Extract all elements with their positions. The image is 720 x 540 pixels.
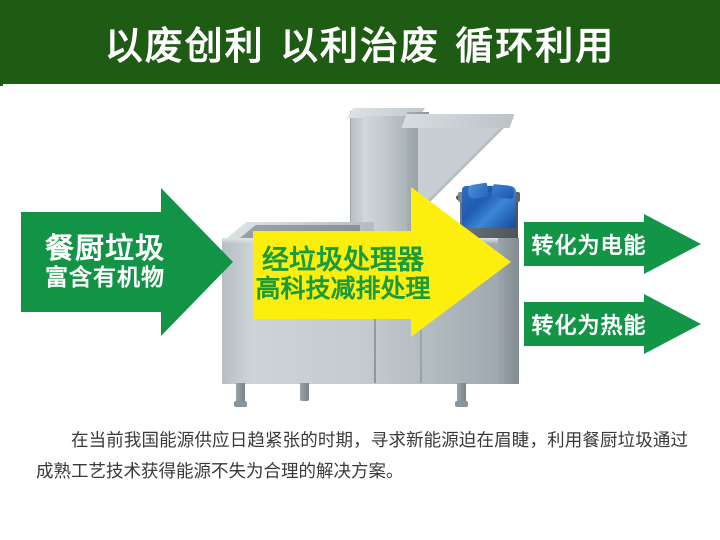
header-banner: 以废创利 以利治废 循环利用 (0, 0, 720, 84)
input-arrow-labels: 餐厨垃圾 富含有机物 (35, 214, 175, 310)
machine-leg (300, 383, 309, 401)
machine-leg-foot (234, 401, 247, 407)
output-heat-arrow-labels: 转化为热能 (530, 302, 648, 346)
caption-paragraph: 在当前我国能源供应日趋紧张的时期，寻求新能源迫在眉睫，利用餐厨垃圾通过成熟工艺技… (36, 426, 688, 487)
machine-leg-foot (455, 401, 468, 407)
page-title: 以废创利 以利治废 循环利用 (105, 15, 615, 70)
input-arrow: 餐厨垃圾 富含有机物 (21, 188, 233, 336)
output-heat-arrow-head-icon (644, 294, 701, 354)
input-arrow-line1: 餐厨垃圾 (45, 232, 165, 264)
process-arrow-line1: 经垃圾处理器 (262, 246, 424, 276)
output-electricity-label: 转化为电能 (531, 228, 646, 260)
output-electricity-arrow-head-icon (644, 214, 701, 274)
output-electricity-arrow-labels: 转化为电能 (530, 222, 648, 266)
output-electricity-arrow: 转化为电能 (524, 214, 704, 274)
process-arrow-head-icon (411, 187, 511, 337)
input-arrow-line2: 富含有机物 (45, 265, 165, 292)
output-heat-label: 转化为热能 (531, 308, 646, 340)
process-arrow: 经垃圾处理器 高科技减排处理 (253, 187, 511, 337)
slide-page: 以废创利 以利治废 循环利用 (0, 0, 720, 540)
machine-hood-top (401, 114, 514, 128)
process-arrow-line2: 高科技减排处理 (256, 275, 431, 304)
process-arrow-labels: 经垃圾处理器 高科技减排处理 (263, 233, 423, 317)
output-heat-arrow: 转化为热能 (524, 294, 704, 354)
